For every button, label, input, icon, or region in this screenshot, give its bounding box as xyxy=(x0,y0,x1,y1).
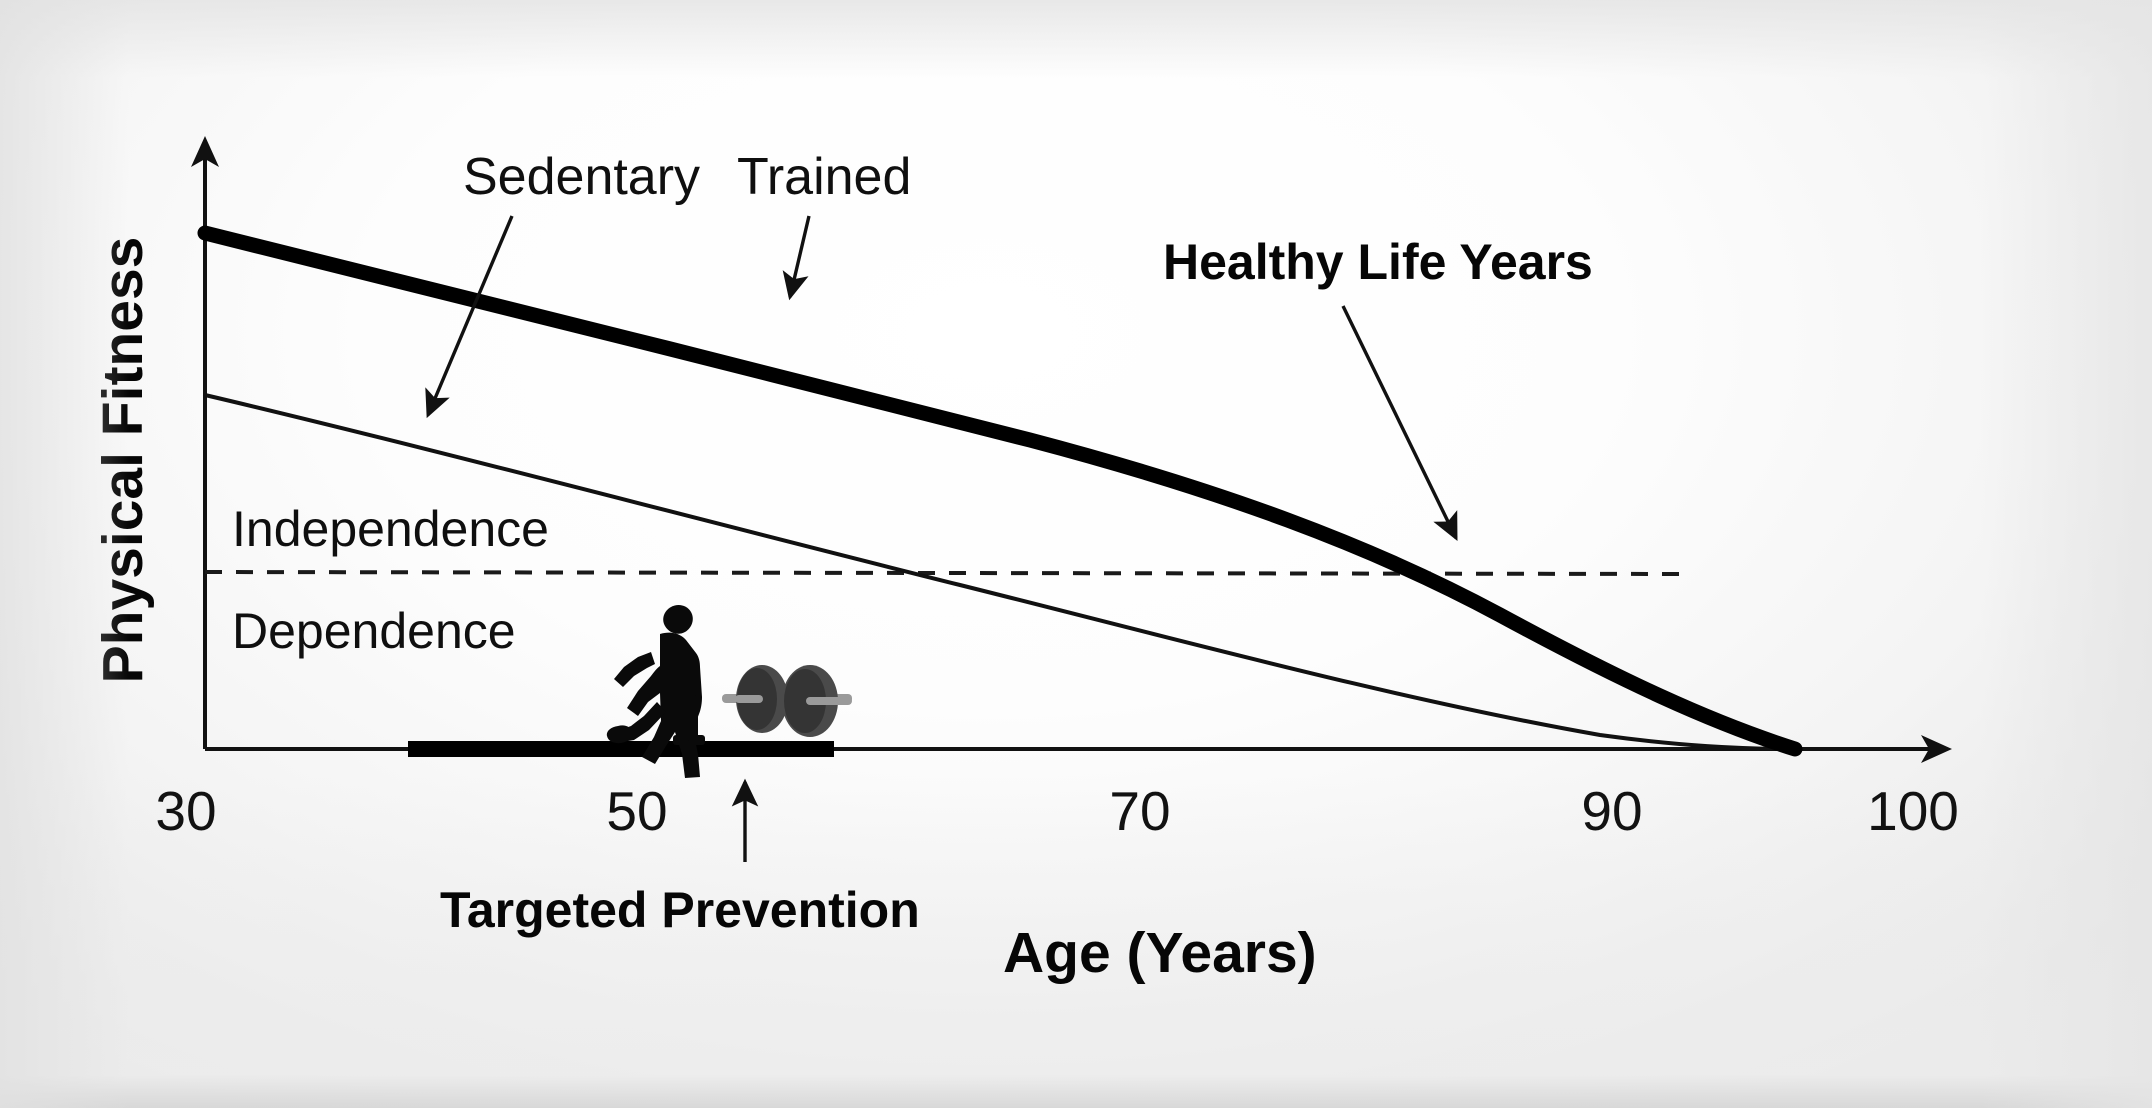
x-tick-label-30: 30 xyxy=(155,780,216,842)
trained-curve xyxy=(205,233,1795,749)
sedentary-leader-arrow xyxy=(428,216,512,415)
chart-canvas: Physical Fitness Age (Years) 30 50 70 90… xyxy=(0,0,2152,1108)
zone-label-independence: Independence xyxy=(232,501,549,557)
dumbbell-icon xyxy=(722,665,852,737)
zone-label-dependence: Dependence xyxy=(232,603,516,659)
x-axis-title: Age (Years) xyxy=(1003,921,1317,985)
callout-trained: Trained xyxy=(737,148,911,206)
healthy-life-years-leader-arrow xyxy=(1343,306,1456,538)
independence-threshold-line xyxy=(205,572,1690,574)
sedentary-curve xyxy=(205,395,1795,749)
physical-fitness-aging-chart: Physical Fitness Age (Years) 30 50 70 90… xyxy=(0,0,2152,1108)
callout-sedentary: Sedentary xyxy=(463,148,700,206)
callout-healthy-life-years: Healthy Life Years xyxy=(1163,234,1593,290)
x-tick-label-70: 70 xyxy=(1109,780,1170,842)
callout-targeted-prevention: Targeted Prevention xyxy=(440,882,920,938)
x-tick-label-90: 90 xyxy=(1581,780,1642,842)
x-tick-label-50: 50 xyxy=(606,780,667,842)
y-axis-title: Physical Fitness xyxy=(91,237,155,684)
trained-leader-arrow xyxy=(790,216,809,297)
x-tick-label-100: 100 xyxy=(1867,780,1959,842)
